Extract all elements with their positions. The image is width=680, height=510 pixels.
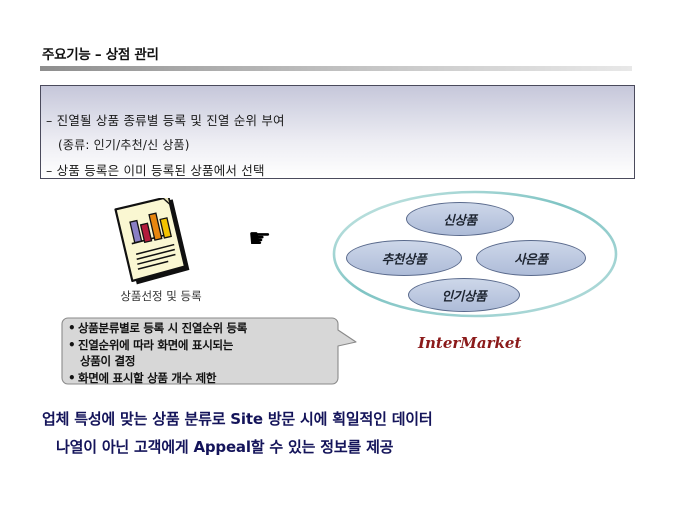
description-line: – 상품 등록은 이미 등록된 상품에서 선택 <box>46 160 265 179</box>
title-underline-rule <box>40 66 632 71</box>
brand-label: InterMarket <box>418 334 521 352</box>
callout-line: 화면에 표시할 상품 개수 제한 <box>68 370 336 387</box>
category-ellipse-popular[interactable]: 인기상품 <box>408 278 520 312</box>
pointing-hand-icon: ☛ <box>248 226 271 252</box>
category-ellipse-gift[interactable]: 사은품 <box>476 240 586 276</box>
category-ellipse-recommended[interactable]: 추천상품 <box>346 240 462 276</box>
description-line: (종류: 인기/추천/신 상품) <box>58 136 190 153</box>
callout-line: 진열순위에 따라 화면에 표시되는 <box>68 337 336 354</box>
category-ellipse-new[interactable]: 신상품 <box>406 202 514 236</box>
callout-line: 상품분류별로 등록 시 진열순위 등록 <box>68 320 336 337</box>
document-icon-label: 상품선정 및 등록 <box>96 288 226 304</box>
category-label: 추천상품 <box>382 248 427 267</box>
product-category-cluster: 신상품 추천상품 사은품 인기상품 <box>330 188 620 320</box>
category-label: 사은품 <box>514 248 548 267</box>
description-line: – 진열될 상품 종류별 등록 및 진열 순위 부여 <box>46 110 285 129</box>
category-label: 신상품 <box>443 209 477 228</box>
callout-text-group: 상품분류별로 등록 시 진열순위 등록 진열순위에 따라 화면에 표시되는 상품… <box>68 320 336 386</box>
category-label: 인기상품 <box>442 285 487 304</box>
document-chart-icon <box>108 198 200 290</box>
page-title: 주요기능 – 상점 관리 <box>42 43 159 63</box>
callout-line: 상품이 결정 <box>68 353 336 370</box>
summary-line: 나열이 아닌 고객에게 Appeal할 수 있는 정보를 제공 <box>56 436 393 457</box>
summary-line: 업체 특성에 맞는 상품 분류로 Site 방문 시에 획일적인 데이터 <box>42 408 433 429</box>
